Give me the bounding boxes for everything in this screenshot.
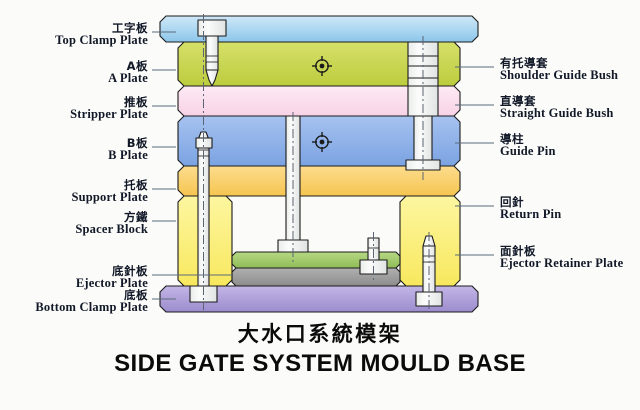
top-cap-screw-head (198, 20, 226, 36)
label-shoulder-guide-bush-en: Shoulder Guide Bush (500, 69, 618, 83)
label-stripper-plate: 推板Stripper Plate (70, 96, 148, 122)
diagram-title: 大水口系統模架 SIDE GATE SYSTEM MOULD BASE (0, 318, 640, 378)
label-guide-pin: 導柱Guide Pin (500, 133, 556, 159)
label-a-plate: A板A Plate (108, 60, 148, 86)
label-top-clamp-plate: 工字板Top Clamp Plate (55, 22, 148, 48)
title-english: SIDE GATE SYSTEM MOULD BASE (0, 350, 640, 378)
top-cap-screw-shank (206, 36, 218, 70)
label-straight-guide-bush: 直導套Straight Guide Bush (500, 95, 614, 121)
label-guide-pin-en: Guide Pin (500, 145, 556, 159)
diagram-canvas: 工字板Top Clamp PlateA板A Plate推板Stripper Pl… (0, 0, 640, 410)
label-b-plate-en: B Plate (108, 149, 148, 163)
label-straight-guide-bush-en: Straight Guide Bush (500, 107, 614, 121)
label-bottom-clamp-plate: 底板Bottom Clamp Plate (35, 289, 148, 315)
title-chinese: 大水口系統模架 (0, 318, 640, 348)
label-support-plate-en: Support Plate (71, 191, 148, 205)
label-a-plate-en: A Plate (108, 72, 148, 86)
label-return-pin: 回針Return Pin (500, 196, 561, 222)
label-stripper-plate-en: Stripper Plate (70, 108, 148, 122)
label-top-clamp-plate-en: Top Clamp Plate (55, 34, 148, 48)
label-support-plate: 托板Support Plate (71, 179, 148, 205)
label-spacer-block: 方鐵Spacer Block (75, 211, 148, 237)
label-spacer-block-en: Spacer Block (75, 223, 148, 237)
label-ejector-retainer-plate: 面針板Ejector Retainer Plate (500, 245, 623, 271)
label-ejector-retainer-plate-en: Ejector Retainer Plate (500, 257, 623, 271)
label-bottom-clamp-plate-en: Bottom Clamp Plate (35, 301, 148, 315)
label-return-pin-en: Return Pin (500, 208, 561, 222)
label-shoulder-guide-bush: 有托導套Shoulder Guide Bush (500, 57, 618, 83)
label-b-plate: B板B Plate (108, 137, 148, 163)
